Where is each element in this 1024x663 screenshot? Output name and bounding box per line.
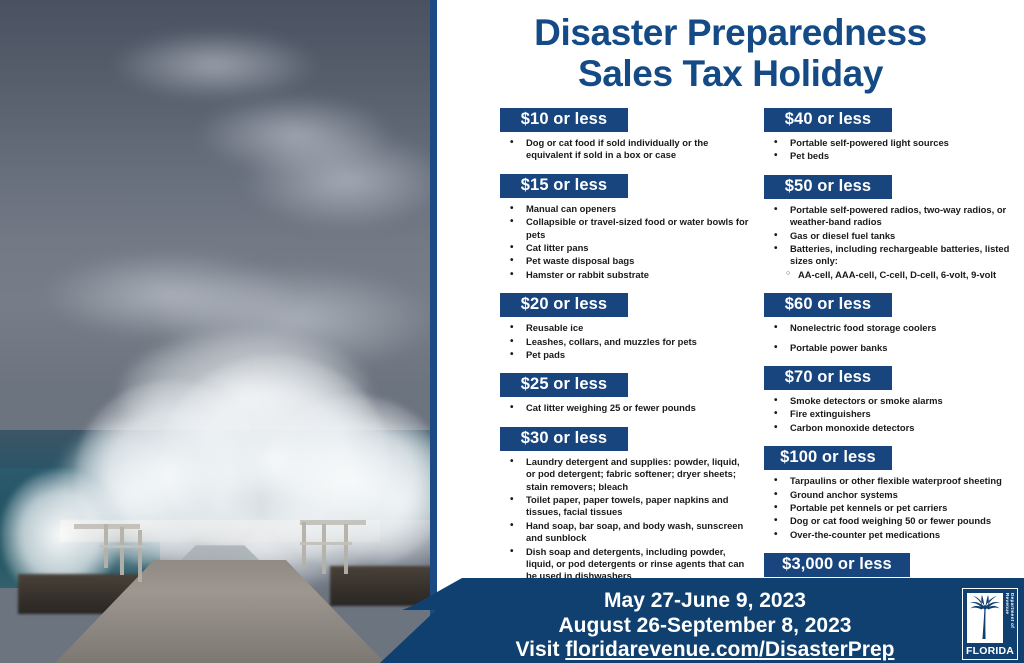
title-line-1: Disaster Preparedness (437, 12, 1024, 53)
content-panel: Disaster Preparedness Sales Tax Holiday … (437, 0, 1024, 663)
item-list: Nonelectric food storage coolersPortable… (764, 322, 1016, 354)
list-item: Dog or cat food if sold individually or … (500, 137, 750, 162)
palm-tree-icon (967, 593, 1003, 643)
list-item: Ground anchor systems (764, 489, 1016, 501)
logo-department-text: Department of Revenue (1003, 593, 1015, 643)
left-column: $10 or lessDog or cat food if sold indiv… (500, 108, 750, 634)
list-item: Hamster or rabbit substrate (500, 269, 750, 281)
list-item: Reusable ice (500, 322, 750, 334)
website-link[interactable]: floridarevenue.com/DisasterPrep (565, 638, 894, 661)
price-section: $50 or lessPortable self-powered radios,… (764, 175, 1016, 281)
date-range-2: August 26-September 8, 2023 (470, 614, 940, 639)
right-column: $40 or lessPortable self-powered light s… (764, 108, 1016, 631)
list-item: Cat litter weighing 25 or fewer pounds (500, 402, 750, 414)
section-heading: $30 or less (500, 427, 628, 451)
list-sub-item: AA-cell, AAA-cell, C-cell, D-cell, 6-vol… (764, 269, 1016, 281)
logo-wordmark: FLORIDA (966, 645, 1006, 657)
date-range-1: May 27-June 9, 2023 (470, 589, 940, 614)
list-item: Cat litter pans (500, 242, 750, 254)
list-item: Hand soap, bar soap, and body wash, suns… (500, 520, 750, 545)
list-item: Carbon monoxide detectors (764, 422, 1016, 434)
section-heading: $50 or less (764, 175, 892, 199)
section-heading: $15 or less (500, 174, 628, 198)
section-heading: $70 or less (764, 366, 892, 390)
item-list: Reusable iceLeashes, collars, and muzzle… (500, 322, 750, 361)
price-section: $60 or lessNonelectric food storage cool… (764, 293, 1016, 354)
title-line-2: Sales Tax Holiday (437, 53, 1024, 94)
price-section: $70 or lessSmoke detectors or smoke alar… (764, 366, 1016, 434)
item-list: Smoke detectors or smoke alarmsFire exti… (764, 395, 1016, 434)
list-item: Leashes, collars, and muzzles for pets (500, 336, 750, 348)
footer-text: May 27-June 9, 2023 August 26-September … (470, 589, 940, 663)
price-section: $25 or lessCat litter weighing 25 or few… (500, 373, 750, 414)
photo-edge-stripe (430, 0, 437, 663)
list-item: Smoke detectors or smoke alarms (764, 395, 1016, 407)
list-item: Dog or cat food weighing 50 or fewer pou… (764, 515, 1016, 527)
list-item: Tarpaulins or other flexible waterproof … (764, 475, 1016, 487)
section-heading: $10 or less (500, 108, 628, 132)
list-item: Nonelectric food storage coolers (764, 322, 1016, 334)
price-section: $15 or lessManual can openersCollapsible… (500, 174, 750, 281)
item-list: Tarpaulins or other flexible waterproof … (764, 475, 1016, 541)
list-item: Dish soap and detergents, including powd… (500, 546, 750, 583)
list-item: Pet beds (764, 150, 1016, 162)
section-heading: $25 or less (500, 373, 628, 397)
item-list: Portable self-powered radios, two-way ra… (764, 204, 1016, 281)
storm-photo (0, 0, 437, 663)
list-item: Laundry detergent and supplies: powder, … (500, 456, 750, 493)
list-item: Portable self-powered light sources (764, 137, 1016, 149)
item-list: Manual can openersCollapsible or travel-… (500, 203, 750, 281)
price-section: $40 or lessPortable self-powered light s… (764, 108, 1016, 163)
list-item: Batteries, including rechargeable batter… (764, 243, 1016, 268)
list-item: Collapsible or travel-sized food or wate… (500, 216, 750, 241)
section-heading: $60 or less (764, 293, 892, 317)
section-heading: $100 or less (764, 446, 892, 470)
list-item: Over-the-counter pet medications (764, 529, 1016, 541)
poster: Disaster Preparedness Sales Tax Holiday … (0, 0, 1024, 663)
section-heading: $40 or less (764, 108, 892, 132)
page-title: Disaster Preparedness Sales Tax Holiday (437, 12, 1024, 95)
list-item: Fire extinguishers (764, 408, 1016, 420)
list-item: Pet pads (500, 349, 750, 361)
item-list: Portable self-powered light sourcesPet b… (764, 137, 1016, 163)
visit-label: Visit (516, 638, 566, 661)
price-section: $10 or lessDog or cat food if sold indiv… (500, 108, 750, 162)
item-list: Cat litter weighing 25 or fewer pounds (500, 402, 750, 414)
price-section: $100 or lessTarpaulins or other flexible… (764, 446, 1016, 541)
price-section: $20 or lessReusable iceLeashes, collars,… (500, 293, 750, 361)
item-list: Dog or cat food if sold individually or … (500, 137, 750, 162)
section-heading: $3,000 or less (764, 553, 910, 577)
list-item: Portable self-powered radios, two-way ra… (764, 204, 1016, 229)
visit-line: Visit floridarevenue.com/DisasterPrep (470, 638, 940, 663)
list-item: Portable pet kennels or pet carriers (764, 502, 1016, 514)
section-heading: $20 or less (500, 293, 628, 317)
list-item: Portable power banks (764, 342, 1016, 354)
list-item: Manual can openers (500, 203, 750, 215)
list-item: Gas or diesel fuel tanks (764, 230, 1016, 242)
florida-dor-logo: FLORIDA Department of Revenue (962, 588, 1018, 660)
list-item: Pet waste disposal bags (500, 255, 750, 267)
list-item: Toilet paper, paper towels, paper napkin… (500, 494, 750, 519)
